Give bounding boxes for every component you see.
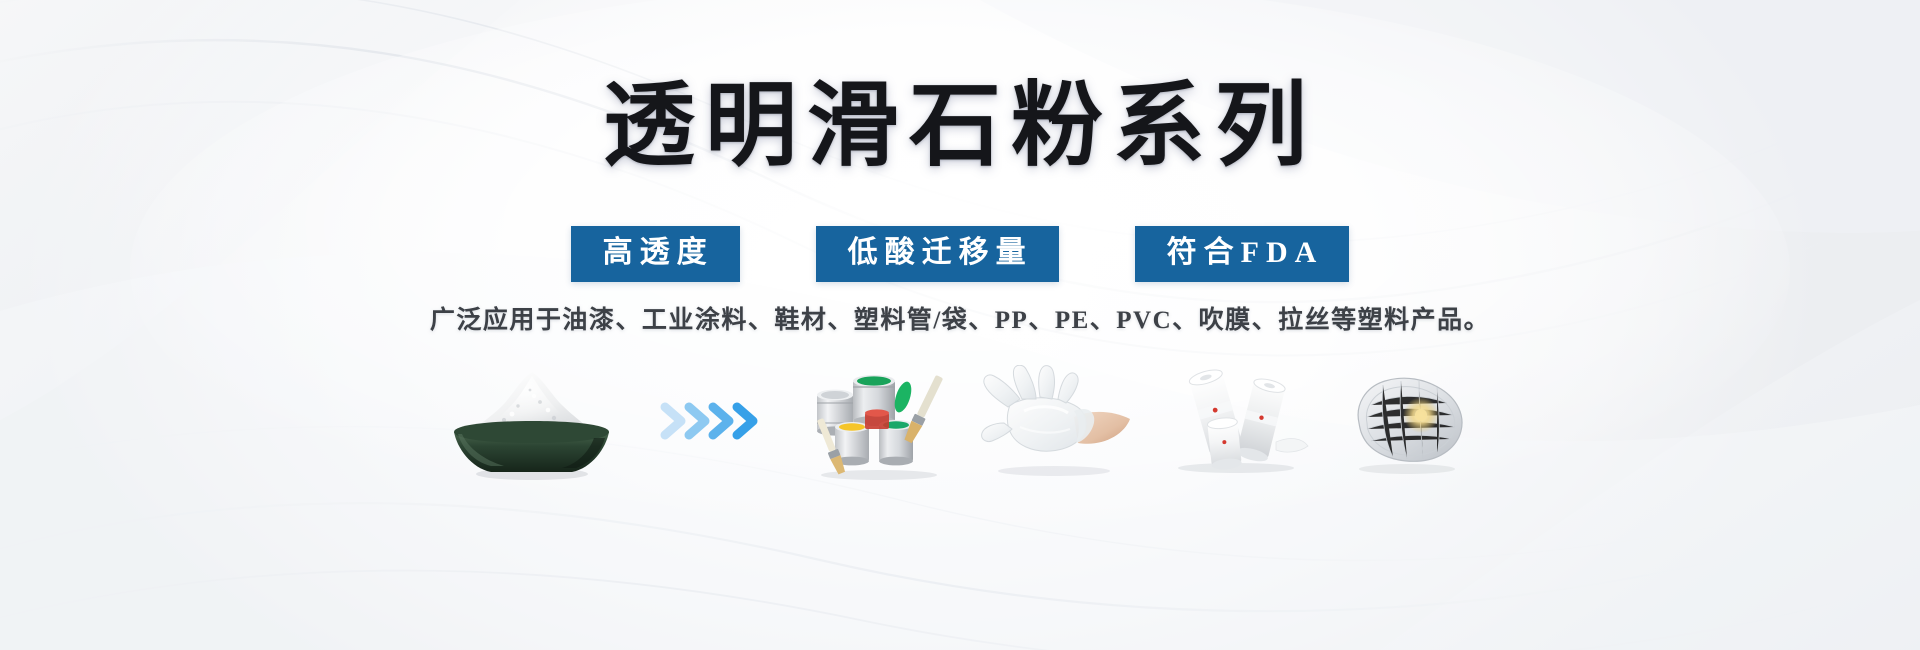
shoe-sole-image: [1337, 365, 1477, 482]
product-banner: 透明滑石粉系列 高透度 低酸迁移量 符合FDA 广泛应用于油漆、工业涂料、鞋材、…: [0, 0, 1920, 650]
application-image-strip: [0, 358, 1920, 488]
paint-cans-image: [805, 361, 950, 486]
gloved-hand-image: [974, 365, 1134, 482]
film-rolls-image: [1158, 366, 1313, 481]
badge-low-acid-migration[interactable]: 低酸迁移量: [816, 226, 1059, 282]
talc-powder-bowl-image: [444, 362, 619, 485]
badge-high-transparency[interactable]: 高透度: [571, 226, 740, 282]
page-title: 透明滑石粉系列: [603, 78, 1317, 175]
badge-fda-compliant[interactable]: 符合FDA: [1135, 226, 1350, 282]
title-container: 透明滑石粉系列: [0, 78, 1920, 175]
chevron-arrows-icon: [643, 391, 781, 456]
subtitle-container: 广泛应用于油漆、工业涂料、鞋材、塑料管/袋、PP、PE、PVC、吹膜、拉丝等塑料…: [0, 300, 1920, 336]
application-subtitle: 广泛应用于油漆、工业涂料、鞋材、塑料管/袋、PP、PE、PVC、吹膜、拉丝等塑料…: [430, 300, 1490, 336]
feature-badge-list: 高透度 低酸迁移量 符合FDA: [0, 226, 1920, 282]
